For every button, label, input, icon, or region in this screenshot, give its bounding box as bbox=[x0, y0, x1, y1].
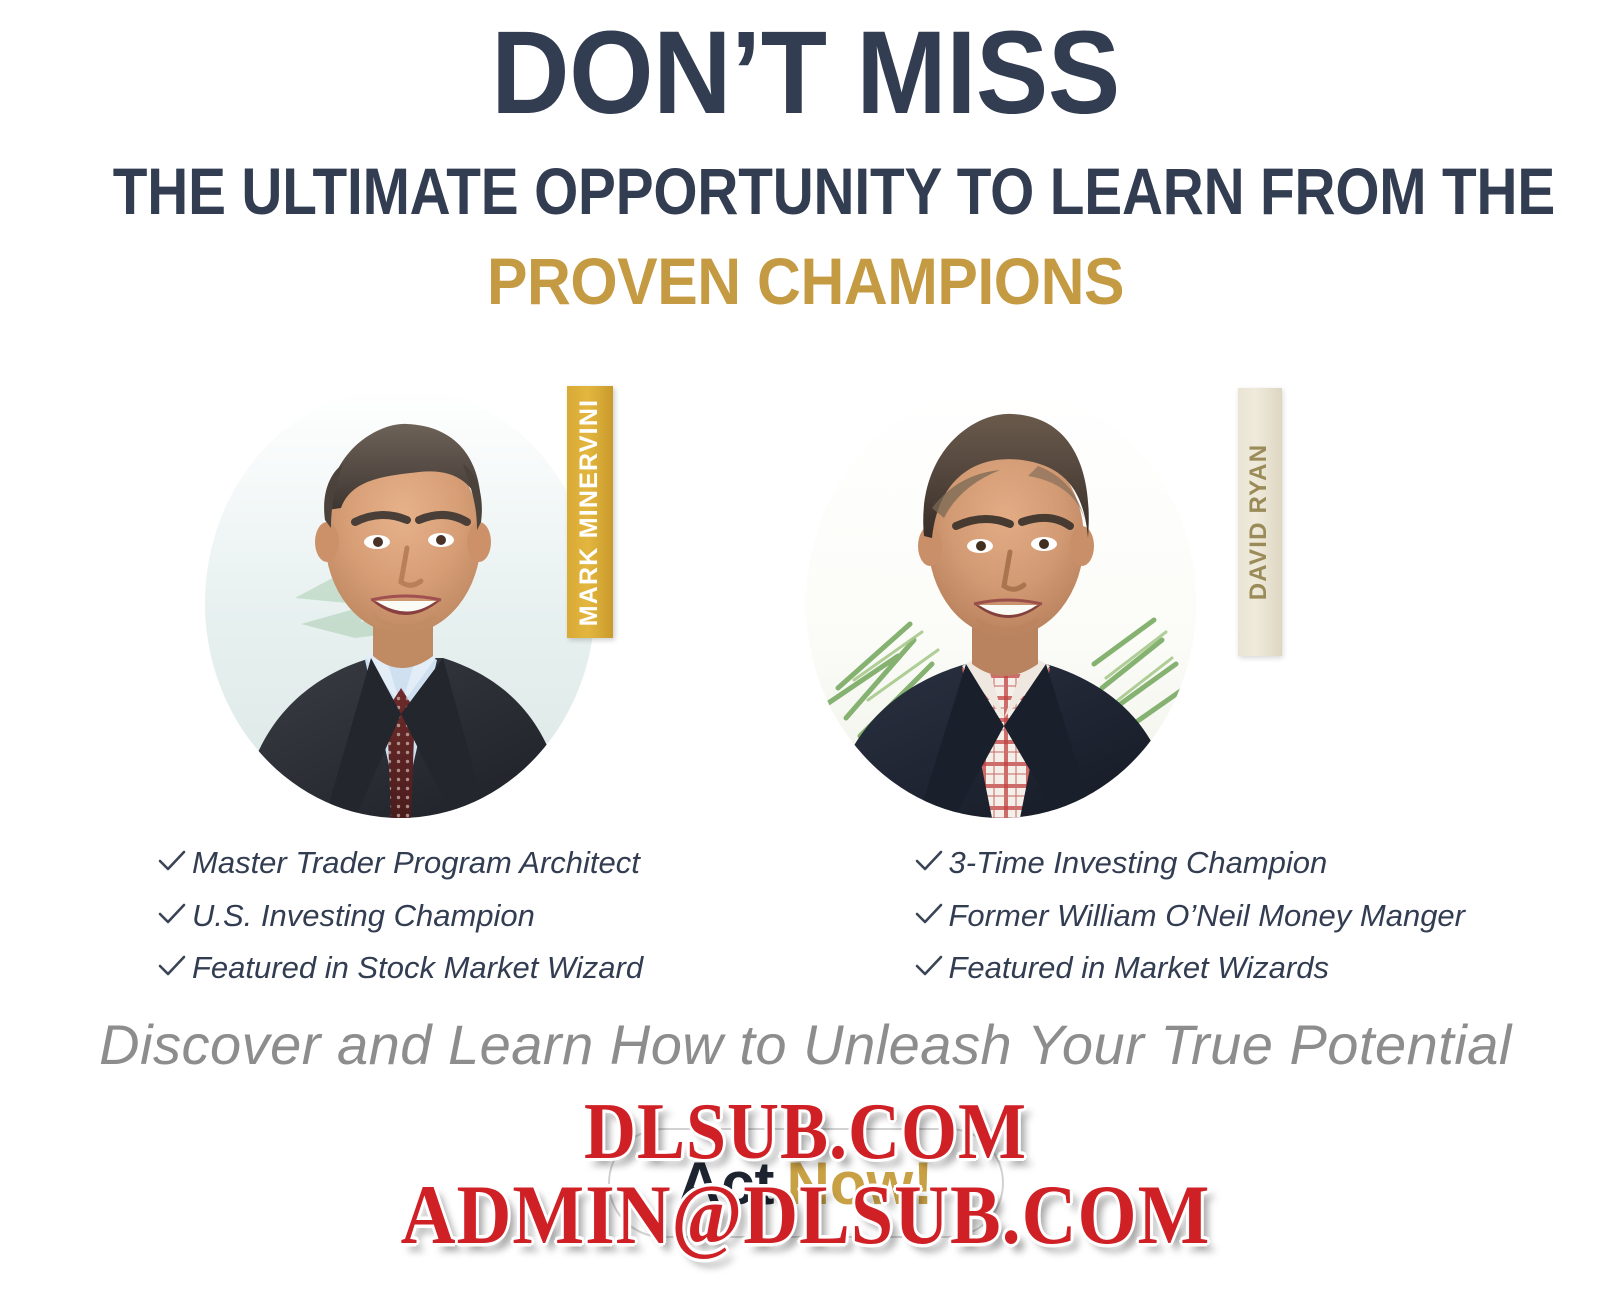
check-icon bbox=[915, 849, 949, 873]
speaker-card-mark-minervini: MARK MINERVINI bbox=[0, 378, 806, 848]
list-item: Featured in Market Wizards bbox=[915, 950, 1611, 987]
check-icon bbox=[158, 954, 192, 978]
bullet-list-mark-minervini: Master Trader Program Architect U.S. Inv… bbox=[0, 845, 855, 1003]
check-icon bbox=[915, 902, 949, 926]
headline-block: DON’T MISS THE ULTIMATE OPPORTUNITY TO L… bbox=[0, 0, 1611, 314]
headline-secondary: THE ULTIMATE OPPORTUNITY TO LEARN FROM T… bbox=[113, 158, 1498, 224]
watermark-site: DLSUB.COM bbox=[0, 1085, 1611, 1178]
headline-primary: DON’T MISS bbox=[64, 14, 1546, 132]
name-banner-david-ryan: DAVID RYAN bbox=[1238, 388, 1282, 656]
portrait-wrapper-right: DAVID RYAN bbox=[806, 378, 1611, 828]
bullet-label: Master Trader Program Architect bbox=[192, 845, 640, 882]
check-icon bbox=[915, 954, 949, 978]
bullet-label: Former William O’Neil Money Manger bbox=[949, 898, 1466, 935]
bullet-list-david-ryan: 3-Time Investing Champion Former William… bbox=[855, 845, 1611, 1003]
avatar-david-ryan bbox=[806, 388, 1196, 818]
list-item: Former William O’Neil Money Manger bbox=[915, 898, 1611, 935]
bullet-label: U.S. Investing Champion bbox=[192, 898, 535, 935]
portrait-wrapper-left: MARK MINERVINI bbox=[0, 378, 806, 828]
check-icon bbox=[158, 902, 192, 926]
bullets-row: Master Trader Program Architect U.S. Inv… bbox=[0, 845, 1611, 1003]
list-item: U.S. Investing Champion bbox=[158, 898, 855, 935]
portrait-image-david-ryan bbox=[806, 388, 1196, 818]
list-item: Master Trader Program Architect bbox=[158, 845, 855, 882]
promo-poster: DON’T MISS THE ULTIMATE OPPORTUNITY TO L… bbox=[0, 0, 1611, 1291]
name-banner-mark-minervini: MARK MINERVINI bbox=[567, 386, 613, 638]
bullet-label: 3-Time Investing Champion bbox=[949, 845, 1328, 882]
check-icon bbox=[158, 849, 192, 873]
bullet-label: Featured in Market Wizards bbox=[949, 950, 1329, 987]
watermark-email: ADMIN@DLSUB.COM bbox=[0, 1167, 1611, 1264]
portrait-image-mark-minervini bbox=[205, 388, 595, 818]
speaker-name-mark-minervini: MARK MINERVINI bbox=[576, 398, 605, 625]
list-item: Featured in Stock Market Wizard bbox=[158, 950, 855, 987]
speaker-card-david-ryan: DAVID RYAN bbox=[806, 378, 1611, 848]
headline-accent: PROVEN CHAMPIONS bbox=[64, 248, 1546, 314]
tagline: Discover and Learn How to Unleash Your T… bbox=[0, 1012, 1611, 1077]
bullet-label: Featured in Stock Market Wizard bbox=[192, 950, 643, 987]
speaker-name-david-ryan: DAVID RYAN bbox=[1246, 444, 1274, 600]
avatar-mark-minervini bbox=[205, 388, 595, 818]
list-item: 3-Time Investing Champion bbox=[915, 845, 1611, 882]
speakers-row: MARK MINERVINI bbox=[0, 378, 1611, 848]
